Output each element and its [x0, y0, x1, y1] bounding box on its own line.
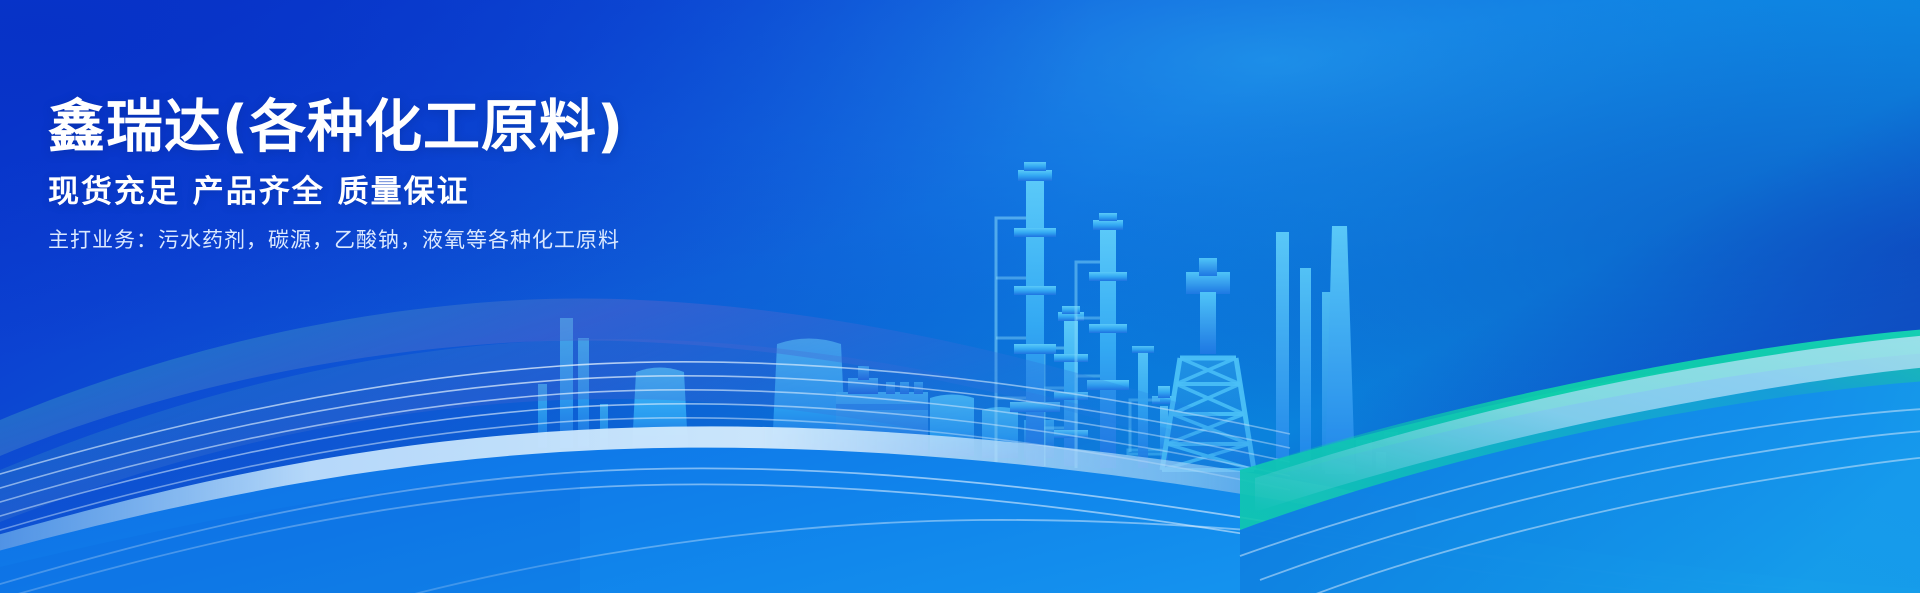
- subtitle: 现货充足 产品齐全 质量保证: [48, 174, 624, 211]
- tagline: 主打业务：污水药剂，碳源，乙酸钠，液氧等各种化工原料: [48, 227, 624, 254]
- page-title: 鑫瑞达(各种化工原料): [48, 96, 624, 160]
- headline-text-block: 鑫瑞达(各种化工原料) 现货充足 产品齐全 质量保证 主打业务：污水药剂，碳源，…: [48, 96, 624, 254]
- promotional-banner: 鑫瑞达(各种化工原料) 现货充足 产品齐全 质量保证 主打业务：污水药剂，碳源，…: [0, 0, 1920, 593]
- flowing-wave-ribbons: [0, 0, 1920, 593]
